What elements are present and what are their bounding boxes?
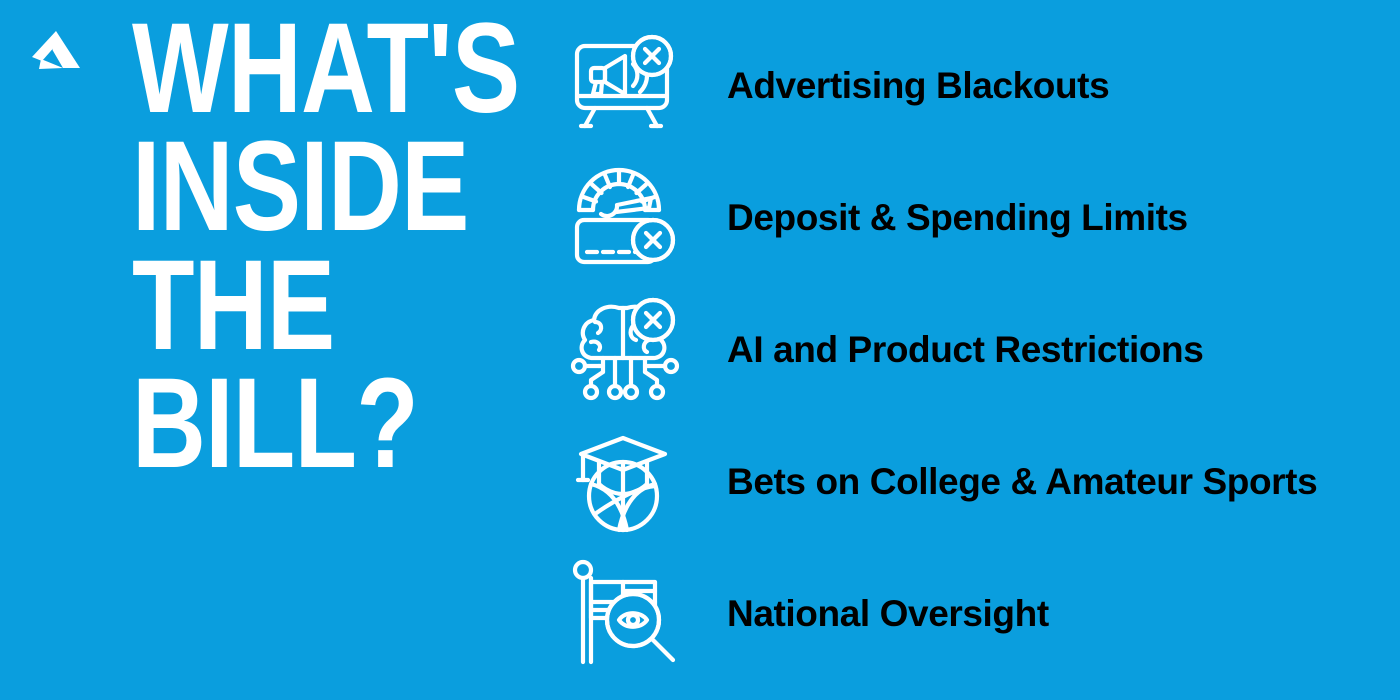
feature-label: Advertising Blackouts [685, 64, 1400, 108]
feature-label: AI and Product Restrictions [685, 328, 1400, 372]
list-item: National Oversight [565, 548, 1400, 680]
page-title: WHAT'S INSIDE THE BILL? [132, 18, 532, 476]
feature-list: Advertising Blackouts [565, 0, 1400, 700]
flag-magnifier-eye-icon [565, 555, 685, 673]
graduation-cap-basketball-icon [565, 423, 685, 541]
list-item: Bets on College & Amateur Sports [565, 416, 1400, 548]
headline-line-1: WHAT'S [132, 18, 452, 120]
gauge-credit-card-blocked-icon [565, 159, 685, 277]
ai-brain-circuit-blocked-icon [565, 291, 685, 409]
triangular-arrow-logo [30, 28, 82, 72]
list-item: Deposit & Spending Limits [565, 152, 1400, 284]
headline-line-3: THE [132, 255, 452, 357]
feature-label: National Oversight [685, 592, 1400, 636]
feature-label: Deposit & Spending Limits [685, 196, 1400, 240]
tv-megaphone-blocked-icon [565, 27, 685, 145]
list-item: Advertising Blackouts [565, 20, 1400, 152]
headline-line-2: INSIDE [132, 136, 452, 238]
infographic-poster: WHAT'S INSIDE THE BILL? [0, 0, 1400, 700]
list-item: AI and Product Restrictions [565, 284, 1400, 416]
feature-label: Bets on College & Amateur Sports [685, 460, 1400, 504]
headline-line-4: BILL? [132, 373, 452, 475]
